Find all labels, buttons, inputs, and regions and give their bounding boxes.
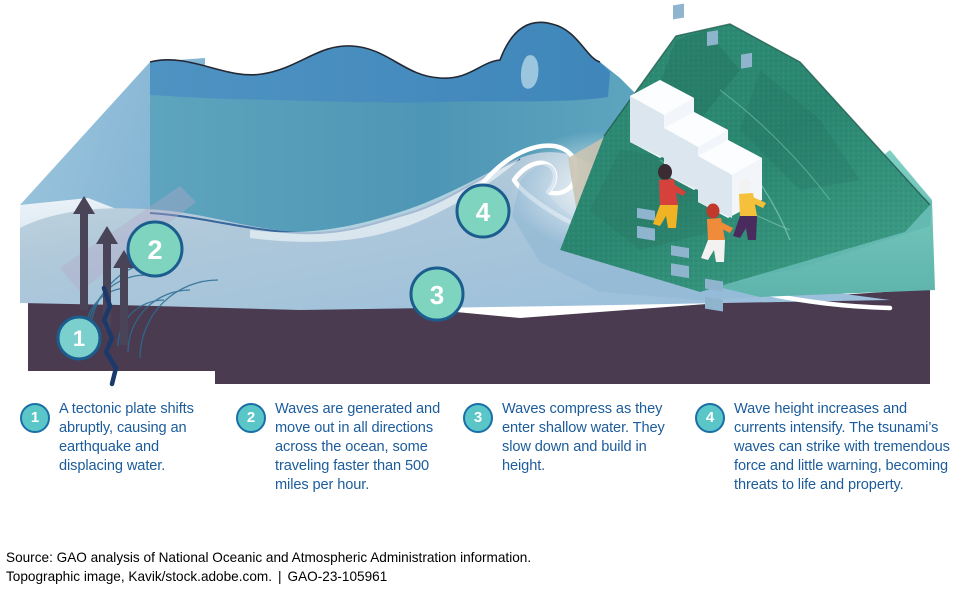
legend-item-4[interactable]: 4 Wave height increases and currents int… <box>695 400 957 495</box>
legend-item-3[interactable]: 3 Waves compress as they enter shallow w… <box>463 400 678 476</box>
scene-marker-1-label: 1 <box>73 326 85 351</box>
scene-marker-4[interactable]: 4 <box>457 185 509 237</box>
legend-text-2: Waves are generated and move out in all … <box>275 400 451 495</box>
scene-marker-2[interactable]: 2 <box>128 222 182 276</box>
scene-marker-3-label: 3 <box>430 280 444 310</box>
legend-text-3: Waves compress as they enter shallow wat… <box>502 400 678 476</box>
tsunami-illustration: 1 2 3 4 <box>0 0 963 396</box>
legend-badge-4: 4 <box>695 403 725 433</box>
legend-text-4: Wave height increases and currents inten… <box>734 400 957 495</box>
scene-marker-4-label: 4 <box>476 197 491 227</box>
legend-badge-1: 1 <box>20 403 50 433</box>
legend-text-1: A tectonic plate shifts abruptly, causin… <box>59 400 225 476</box>
scene-marker-1[interactable]: 1 <box>58 317 100 359</box>
legend-item-2[interactable]: 2 Waves are generated and move out in al… <box>236 400 451 495</box>
legend-badge-3: 3 <box>463 403 493 433</box>
legend-badge-2: 2 <box>236 403 266 433</box>
scene-marker-3[interactable]: 3 <box>411 268 463 320</box>
report-number: GAO-23-105961 <box>288 569 388 584</box>
source-divider: | <box>278 569 282 584</box>
source-note: Source: GAO analysis of National Oceanic… <box>6 548 956 586</box>
scene-marker-2-label: 2 <box>147 235 162 265</box>
legend: 1 A tectonic plate shifts abruptly, caus… <box>0 400 963 540</box>
legend-item-1[interactable]: 1 A tectonic plate shifts abruptly, caus… <box>20 400 225 476</box>
source-credit: Topographic image, Kavik/stock.adobe.com… <box>6 569 272 584</box>
source-line-2: Topographic image, Kavik/stock.adobe.com… <box>6 567 956 586</box>
source-line-1: Source: GAO analysis of National Oceanic… <box>6 548 956 567</box>
